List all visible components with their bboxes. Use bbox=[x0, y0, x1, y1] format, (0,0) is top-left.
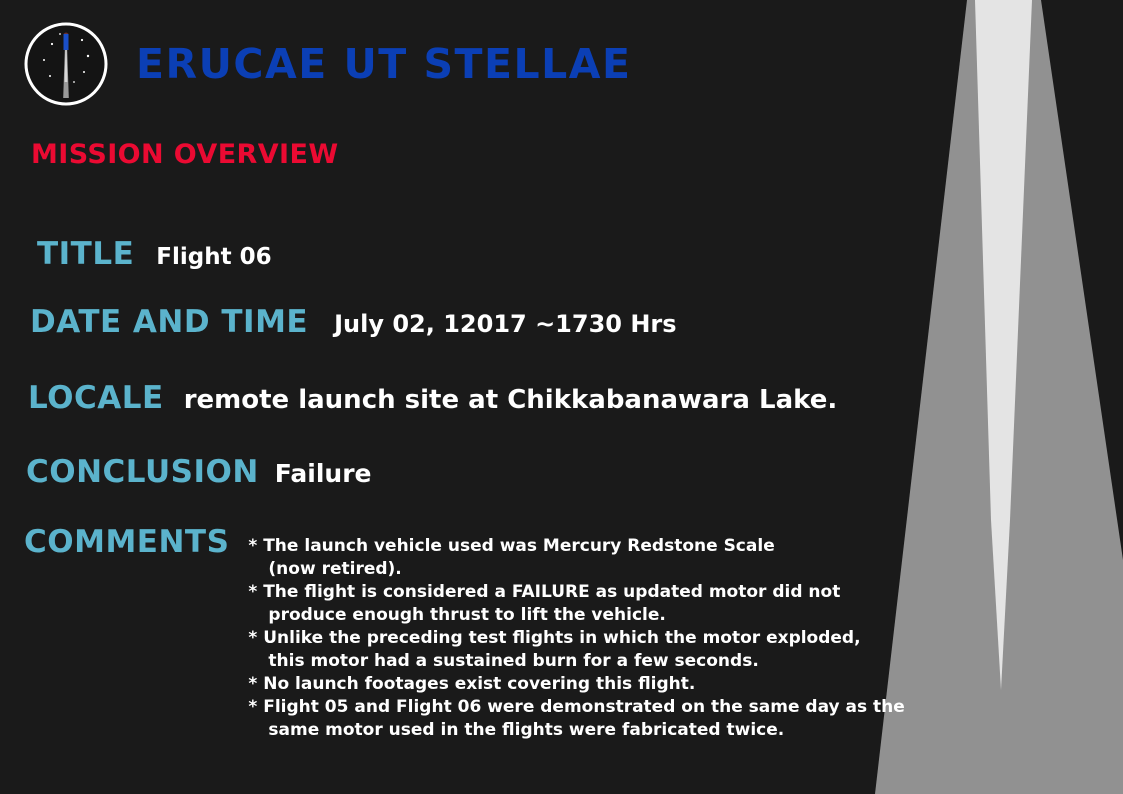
comment-line: * Flight 05 and Flight 06 were demonstra… bbox=[248, 696, 904, 719]
field-datetime-label: DATE AND TIME bbox=[30, 304, 308, 340]
field-conclusion-label: CONCLUSION bbox=[26, 454, 259, 490]
comment-line: * The launch vehicle used was Mercury Re… bbox=[248, 535, 904, 558]
field-datetime: DATE AND TIME July 02, 12017 ~1730 Hrs bbox=[30, 304, 677, 340]
field-comments-label: COMMENTS bbox=[24, 524, 229, 560]
mission-overview-slide: ERUCAE UT STELLAE MISSION OVERVIEW TITLE… bbox=[0, 0, 1123, 794]
field-conclusion-value: Failure bbox=[275, 459, 372, 488]
field-locale-label: LOCALE bbox=[28, 380, 164, 416]
section-heading: MISSION OVERVIEW bbox=[31, 139, 339, 170]
comment-item: * The flight is considered a FAILURE as … bbox=[248, 581, 904, 627]
comment-line: * No launch footages exist covering this… bbox=[248, 673, 904, 696]
field-comments: COMMENTS * The launch vehicle used was M… bbox=[24, 524, 905, 742]
brand-title: ERUCAE UT STELLAE bbox=[136, 40, 632, 88]
field-locale-value: remote launch site at Chikkabanawara Lak… bbox=[184, 385, 838, 415]
comment-item: * Unlike the preceding test flights in w… bbox=[248, 627, 904, 673]
comment-item: * The launch vehicle used was Mercury Re… bbox=[248, 535, 904, 581]
comment-line: produce enough thrust to lift the vehicl… bbox=[248, 604, 904, 627]
comments-list: * The launch vehicle used was Mercury Re… bbox=[248, 535, 904, 742]
comment-line: this motor had a sustained burn for a fe… bbox=[248, 650, 904, 673]
comment-line: (now retired). bbox=[248, 558, 904, 581]
field-datetime-value: July 02, 12017 ~1730 Hrs bbox=[334, 310, 676, 338]
comment-item: * No launch footages exist covering this… bbox=[248, 673, 904, 696]
comment-line: * Unlike the preceding test flights in w… bbox=[248, 627, 904, 650]
comment-line: same motor used in the flights were fabr… bbox=[248, 719, 904, 742]
plume-inner-cone bbox=[975, 0, 1032, 690]
rocket-in-circle-icon bbox=[22, 20, 110, 108]
field-title-value: Flight 06 bbox=[156, 244, 271, 270]
logo bbox=[22, 20, 110, 108]
field-locale: LOCALE remote launch site at Chikkabanaw… bbox=[28, 380, 837, 416]
field-title: TITLE Flight 06 bbox=[37, 236, 272, 272]
plume-outer-cone bbox=[875, 0, 1123, 794]
field-title-label: TITLE bbox=[37, 236, 134, 272]
header: ERUCAE UT STELLAE bbox=[22, 18, 632, 110]
comment-line: * The flight is considered a FAILURE as … bbox=[248, 581, 904, 604]
comment-item: * Flight 05 and Flight 06 were demonstra… bbox=[248, 696, 904, 742]
field-conclusion: CONCLUSION Failure bbox=[26, 454, 372, 490]
